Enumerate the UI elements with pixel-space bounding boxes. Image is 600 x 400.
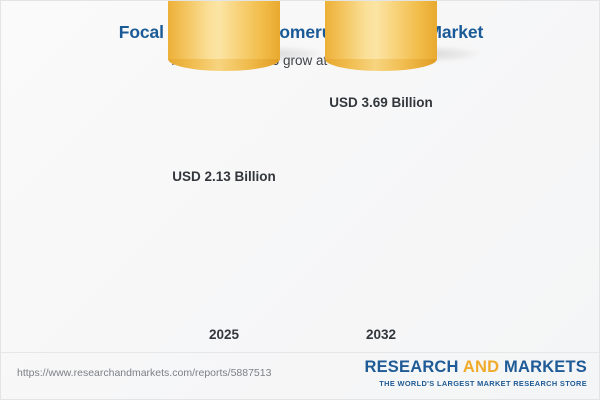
axis-label-2025: 2025 xyxy=(134,327,314,342)
chart-title: Focal Segmental Glomerulosclerosis Marke… xyxy=(1,1,600,43)
bar-group-2032: USD 3.69 Billion 2032 xyxy=(291,86,471,346)
chart-plot-area: USD 2.13 Billion 2025 USD 3.69 Billion 2… xyxy=(1,86,600,346)
bar-body-2025 xyxy=(168,0,280,59)
brand-word-markets: MARKETS xyxy=(504,358,587,376)
axis-label-2032: 2032 xyxy=(291,327,471,342)
bar-value-label-2025: USD 2.13 Billion xyxy=(134,169,314,184)
source-url[interactable]: https://www.researchandmarkets.com/repor… xyxy=(17,367,271,379)
brand-tagline: THE WORLD'S LARGEST MARKET RESEARCH STOR… xyxy=(364,376,587,388)
brand-wordmark: RESEARCH AND MARKETS xyxy=(364,359,587,376)
brand-word-and: AND xyxy=(463,358,499,376)
brand-logo[interactable]: RESEARCH AND MARKETS THE WORLD'S LARGEST… xyxy=(364,359,587,388)
bar-base-segment-2032 xyxy=(325,0,437,59)
market-forecast-infographic: Focal Segmental Glomerulosclerosis Marke… xyxy=(0,0,600,400)
chart-footer: https://www.researchandmarkets.com/repor… xyxy=(1,352,600,399)
brand-word-research: RESEARCH xyxy=(364,358,458,376)
bar-group-2025: USD 2.13 Billion 2025 xyxy=(134,86,314,346)
bar-value-label-2032: USD 3.69 Billion xyxy=(291,95,471,110)
